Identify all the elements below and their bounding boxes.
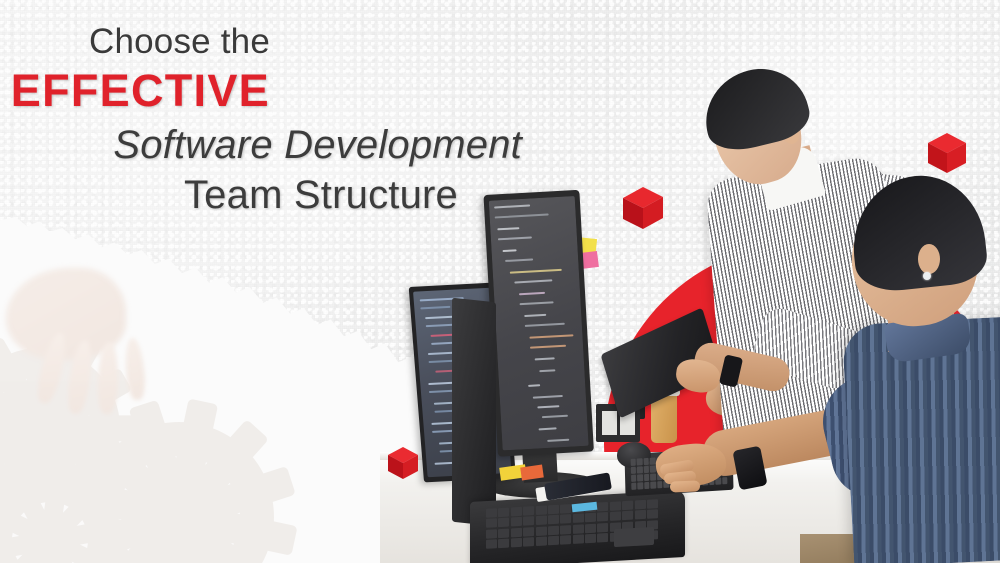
office-photo-scene: [0, 0, 1000, 563]
laptop-lid: [452, 298, 496, 527]
laptop-trackpad: [614, 527, 654, 547]
banner-image: Choose the EFFECTIVE Software Developmen…: [0, 0, 1000, 563]
portrait-monitor-screen: [489, 196, 589, 450]
red-cube-decoration: [928, 133, 966, 173]
red-cube-decoration: [388, 447, 418, 479]
seated-developer-earring: [923, 272, 931, 280]
portrait-monitor: [483, 190, 593, 457]
red-cube-decoration: [623, 187, 663, 229]
seated-developer-ear: [918, 244, 940, 274]
